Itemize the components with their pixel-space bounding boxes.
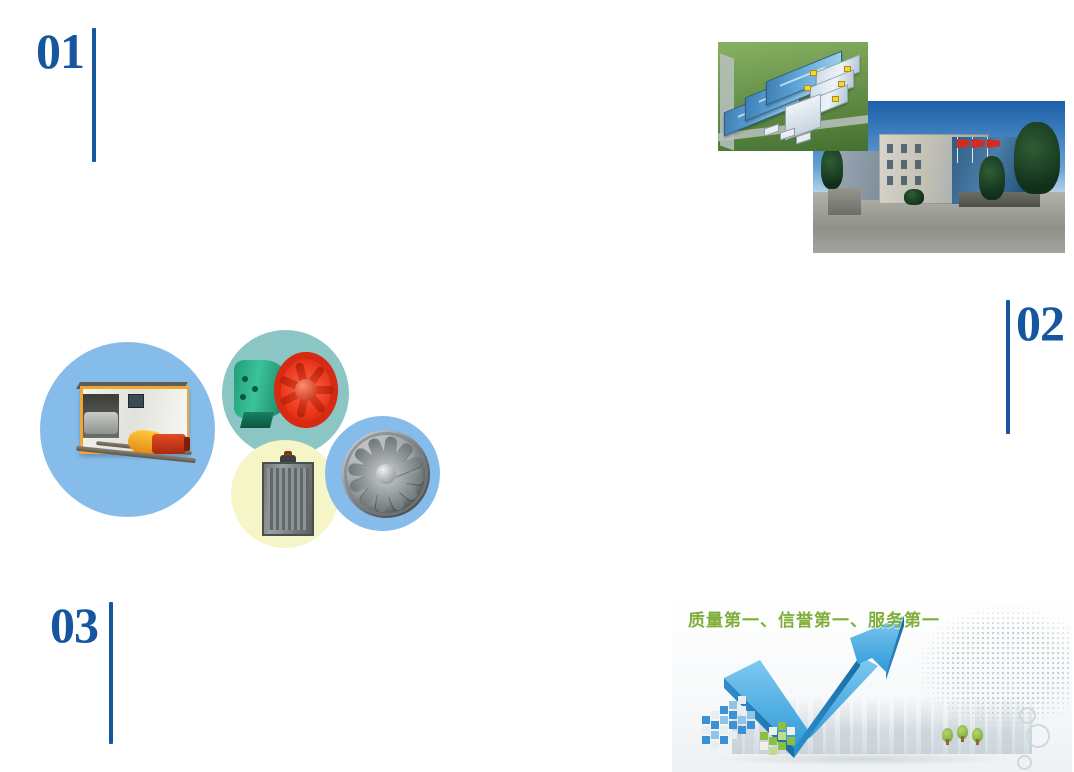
cube	[769, 747, 777, 755]
product-mixed-flow-impeller	[342, 430, 430, 518]
cube	[711, 711, 719, 719]
product-cluster-image	[30, 318, 430, 558]
cube	[729, 721, 737, 729]
section-rule-03	[109, 602, 113, 744]
cube	[769, 727, 777, 735]
photo-window	[915, 176, 921, 185]
cube	[760, 732, 768, 740]
axial-mount-foot	[240, 412, 274, 428]
bubble-decoration	[1026, 724, 1050, 748]
cube	[711, 721, 719, 729]
photo-window	[901, 144, 907, 153]
factory-marker-icon	[810, 70, 817, 76]
cube	[747, 711, 755, 719]
photo-window	[887, 144, 893, 153]
photo-window	[887, 176, 893, 185]
filter-mesh	[267, 468, 309, 530]
factory-marker-icon	[804, 85, 811, 91]
photo-tree	[1014, 122, 1060, 194]
page-root: 01	[0, 0, 1074, 772]
cube	[747, 721, 755, 729]
cube	[720, 716, 728, 724]
product-air-filter-box	[262, 462, 314, 536]
cube	[720, 706, 728, 714]
section-rule-01	[92, 28, 96, 162]
blue-cube-stack	[702, 688, 768, 750]
impeller-rim	[344, 432, 428, 516]
cube	[729, 711, 737, 719]
fan-motor	[152, 434, 186, 454]
photo-window	[915, 160, 921, 169]
cube	[778, 722, 786, 730]
cube	[729, 701, 737, 709]
cube	[702, 716, 710, 724]
cube	[778, 742, 786, 750]
factory-marker-icon	[844, 66, 851, 72]
photo-window	[901, 176, 907, 185]
cube	[702, 726, 710, 734]
photo-window	[901, 160, 907, 169]
photo-window	[915, 144, 921, 153]
cube	[720, 736, 728, 744]
section-number-01: 01	[36, 26, 84, 76]
cube	[778, 732, 786, 740]
cube	[720, 726, 728, 734]
cube	[769, 737, 777, 745]
photo-window	[887, 160, 893, 169]
factory-marker-icon	[838, 81, 845, 87]
tree-icon	[942, 728, 953, 742]
growth-banner-image: 质量第一、信誉第一、服务第一	[672, 598, 1072, 772]
cube	[787, 737, 795, 745]
axial-hub	[295, 379, 317, 401]
tree-icon	[972, 728, 983, 742]
cube	[729, 731, 737, 739]
product-cabinet-centrifugal-fan	[72, 380, 202, 476]
photo-tree	[979, 156, 1005, 200]
tree-icon	[957, 725, 968, 739]
cube	[711, 741, 719, 749]
cube	[787, 727, 795, 735]
fan-wheel	[84, 412, 118, 434]
cube	[711, 731, 719, 739]
cube	[760, 742, 768, 750]
bubble-decoration	[1019, 707, 1036, 724]
fan-control-panel	[128, 394, 144, 408]
section-number-03: 03	[50, 600, 98, 650]
banner-slogan: 质量第一、信誉第一、服务第一	[688, 606, 940, 631]
section-number-02: 02	[1016, 298, 1064, 348]
cube	[738, 716, 746, 724]
product-axial-flow-fan	[234, 346, 338, 438]
cube	[738, 706, 746, 714]
cube	[738, 696, 746, 704]
tree-group	[942, 724, 990, 746]
factory-model-image	[718, 42, 868, 151]
bubble-decoration	[1017, 755, 1032, 770]
green-cube-stack	[760, 718, 798, 754]
photo-gatehouse	[828, 188, 861, 215]
cube	[738, 726, 746, 734]
photo-shrub	[904, 189, 924, 205]
photo-tree	[821, 147, 843, 189]
cube	[702, 736, 710, 744]
axial-impeller-ring	[274, 352, 338, 428]
factory-marker-icon	[832, 96, 839, 102]
section-rule-02	[1006, 300, 1010, 434]
